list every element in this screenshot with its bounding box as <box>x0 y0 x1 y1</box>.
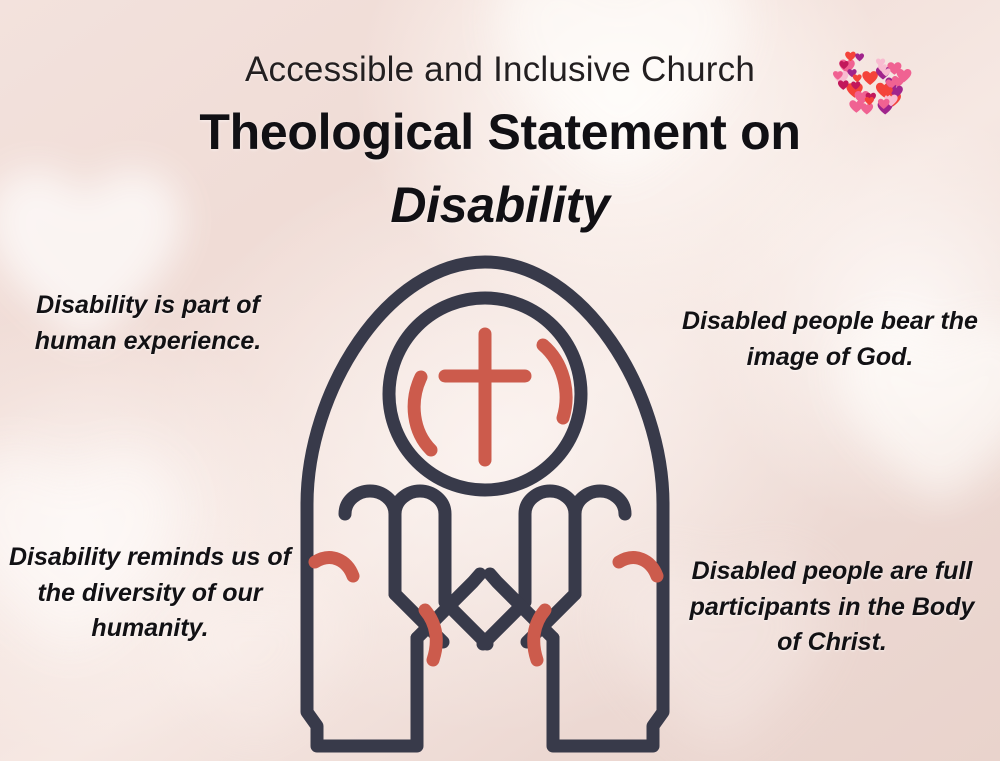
heart-of-hearts-icon <box>826 48 930 134</box>
statement-bottom-right: Disabled people are full participants in… <box>676 554 988 661</box>
left-ring-finger <box>395 491 445 564</box>
cross-icon <box>445 334 525 460</box>
cross-accent-arc-right <box>543 345 566 418</box>
page-title-line-2: Disability <box>0 176 1000 234</box>
right-ring-finger <box>525 491 575 564</box>
right-hand-accent-outer <box>619 558 657 576</box>
left-hand-accent-outer <box>315 558 353 576</box>
poster-canvas: Accessible and Inclusive Church Theologi… <box>0 0 1000 761</box>
statement-bottom-left: Disability reminds us of the diversity o… <box>4 540 296 647</box>
statement-top-right: Disabled people bear the image of God. <box>680 304 980 375</box>
cross-accent-arc-left <box>414 377 431 450</box>
statement-top-left: Disability is part of human experience. <box>8 288 288 359</box>
right-pinky <box>575 491 625 594</box>
hands-holding-cross-icon <box>275 242 695 757</box>
